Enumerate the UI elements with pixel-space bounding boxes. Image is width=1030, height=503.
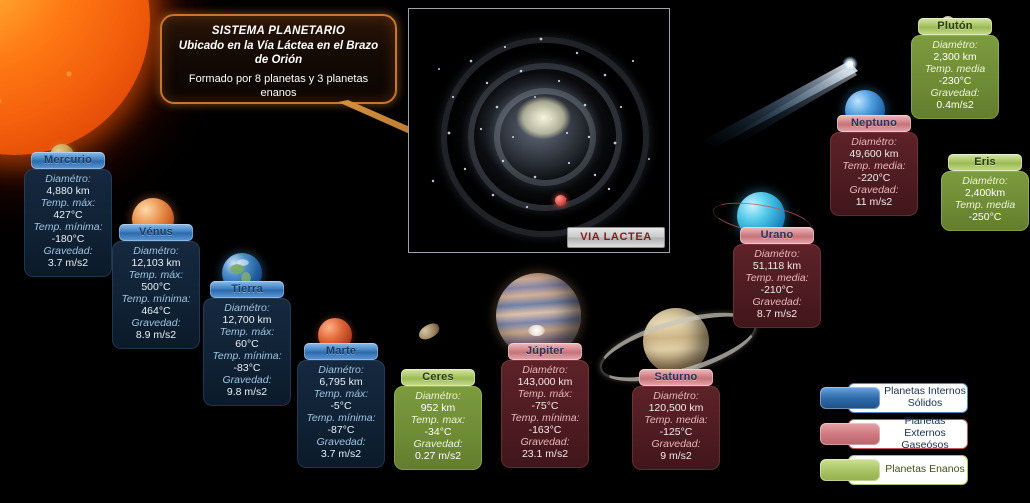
card-header-neptuno: Neptuno (837, 115, 911, 132)
info-card-tierra[interactable]: TierraDiamétro:12,700 kmTemp. máx:60°CTe… (203, 298, 291, 406)
card-row: Temp. máx:427°C (27, 198, 109, 222)
card-row: Temp. max:-34°C (397, 415, 479, 439)
card-row: Temp. media:-125°C (635, 415, 717, 439)
legend-color-chip (820, 459, 880, 481)
card-row-value: 0.27 m/s2 (397, 451, 479, 463)
card-row: Gravedad:11 m/s2 (833, 185, 915, 209)
card-row: Temp. mínima:-83°C (206, 351, 288, 375)
legend-item-red[interactable]: Planetas Externos Gaseósos (820, 419, 968, 449)
card-row-value: 8.7 m/s2 (736, 309, 818, 321)
card-header-ceres: Ceres (401, 369, 475, 386)
card-row-value: 9 m/s2 (635, 451, 717, 463)
card-row: Gravedad:23.1 m/s2 (504, 437, 586, 461)
card-row: Temp. media:-210°C (736, 273, 818, 297)
card-row: Diamétro:120,500 km (635, 391, 717, 415)
card-row: Gravedad:8.7 m/s2 (736, 297, 818, 321)
legend-color-chip (820, 387, 880, 409)
card-header-vénus: Vénus (119, 224, 193, 241)
info-card-venus[interactable]: VénusDiamétro:12,103 kmTemp. máx:500°CTe… (112, 241, 200, 349)
legend-item-blue[interactable]: Planetas Internos Sólidos (820, 383, 968, 413)
card-row: Gravedad:9.8 m/s2 (206, 375, 288, 399)
card-row-value: 3.7 m/s2 (300, 449, 382, 461)
card-row: Diamétro:2,300 km (914, 40, 996, 64)
sun-image (0, 0, 150, 155)
asteroid-image (416, 321, 442, 343)
card-row: Temp. media-250°C (944, 200, 1026, 224)
galaxy-starfield (409, 9, 670, 253)
card-row: Temp. mínima:-87°C (300, 413, 382, 437)
card-header-eris: Eris (948, 154, 1022, 171)
card-row: Gravedad:3.7 m/s2 (300, 437, 382, 461)
card-row: Temp. mínima:464°C (115, 294, 197, 318)
card-row: Diamétro:143,000 km (504, 365, 586, 389)
card-header-tierra: Tierra (210, 281, 284, 298)
legend-color-chip (820, 423, 880, 445)
solar-system-marker-dot (555, 195, 566, 206)
card-row-value: 11 m/s2 (833, 197, 915, 209)
card-row: Temp. media-230°C (914, 64, 996, 88)
legend: Planetas Internos SólidosPlanetas Extern… (820, 383, 968, 491)
card-row: Temp. mínima:-163°C (504, 413, 586, 437)
info-card-eris[interactable]: ErisDiamétro:2,400kmTemp. media-250°C (941, 171, 1029, 231)
card-row: Temp. mínima:-180°C (27, 222, 109, 246)
card-row: Temp. media:-220°C (833, 161, 915, 185)
card-header-mercurio: Mercurio (31, 152, 105, 169)
card-row-value: 9.8 m/s2 (206, 387, 288, 399)
card-row-label: Gravedad: (115, 318, 197, 330)
infographic-canvas: SISTEMA PLANETARIO Ubicado en la Vía Lác… (0, 0, 1030, 503)
info-card-mercurio[interactable]: MercurioDiamétro:4,880 kmTemp. máx:427°C… (24, 169, 112, 277)
card-row: Gravedad:8.9 m/s2 (115, 318, 197, 342)
info-card-ceres[interactable]: CeresDiamétro:952 kmTemp. max:-34°CGrave… (394, 386, 482, 470)
card-row: Temp. máx:60°C (206, 327, 288, 351)
milky-way-panel: VIA LACTEA (408, 8, 670, 253)
card-row: Gravedad:0.4m/s2 (914, 88, 996, 112)
card-row-value: -250°C (944, 212, 1026, 224)
card-row: Temp. máx:500°C (115, 270, 197, 294)
legend-item-green[interactable]: Planetas Enanos (820, 455, 968, 485)
card-row: Temp. máx:-75°C (504, 389, 586, 413)
card-row: Diamétro:51,118 km (736, 249, 818, 273)
card-row: Diamétro:49,600 km (833, 137, 915, 161)
card-header-júpiter: Júpiter (508, 343, 582, 360)
info-card-urano[interactable]: UranoDiamétro:51,118 kmTemp. media:-210°… (733, 244, 821, 328)
card-row: Temp. máx:-5°C (300, 389, 382, 413)
card-row-value: 0.4m/s2 (914, 100, 996, 112)
info-card-marte[interactable]: MarteDiamétro:6,795 kmTemp. máx:-5°CTemp… (297, 360, 385, 468)
title-callout: SISTEMA PLANETARIO Ubicado en la Vía Lác… (160, 14, 397, 104)
via-lactea-label: VIA LACTEA (567, 227, 665, 248)
title-line-1: SISTEMA PLANETARIO (172, 25, 385, 37)
card-row: Diamétro:6,795 km (300, 365, 382, 389)
jupiter-storm-spot (528, 325, 545, 336)
card-header-marte: Marte (304, 343, 378, 360)
card-row-value: 23.1 m/s2 (504, 449, 586, 461)
title-line-2: Ubicado en la Vía Láctea en el Brazo de … (172, 39, 385, 68)
card-row: Diamétro:2,400km (944, 176, 1026, 200)
title-line-3: Formado por 8 planetas y 3 planetas enan… (172, 72, 385, 101)
info-card-saturno[interactable]: SaturnoDiamétro:120,500 kmTemp. media:-1… (632, 386, 720, 470)
card-header-plutón: Plutón (918, 18, 992, 35)
card-row: Diamétro:12,700 km (206, 303, 288, 327)
card-row-value: 3.7 m/s2 (27, 258, 109, 270)
card-row: Diamétro:952 km (397, 391, 479, 415)
info-card-pluton[interactable]: PlutónDiamétro:2,300 kmTemp. media-230°C… (911, 35, 999, 119)
card-row: Gravedad:3.7 m/s2 (27, 246, 109, 270)
card-row: Diamétro:4,880 km (27, 174, 109, 198)
card-row-label: Gravedad: (206, 375, 288, 387)
card-row-label: Gravedad: (300, 437, 382, 449)
info-card-jupiter[interactable]: JúpiterDiamétro:143,000 kmTemp. máx:-75°… (501, 360, 589, 468)
card-row-label: Gravedad: (504, 437, 586, 449)
card-row-label: Gravedad: (27, 246, 109, 258)
card-row: Gravedad:0.27 m/s2 (397, 439, 479, 463)
card-row: Gravedad:9 m/s2 (635, 439, 717, 463)
card-row-value: 8.9 m/s2 (115, 330, 197, 342)
info-card-neptuno[interactable]: NeptunoDiamétro:49,600 kmTemp. media:-22… (830, 132, 918, 216)
card-header-saturno: Saturno (639, 369, 713, 386)
card-header-urano: Urano (740, 227, 814, 244)
card-row: Diamétro:12,103 km (115, 246, 197, 270)
